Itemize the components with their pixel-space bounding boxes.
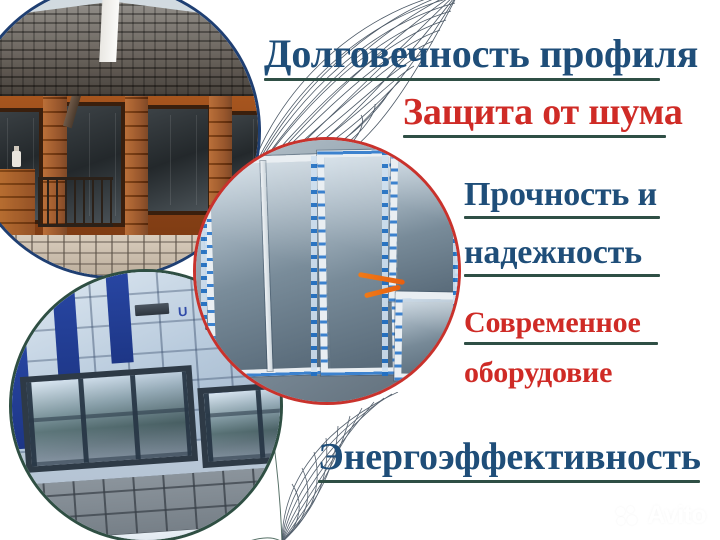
- veka-pvc-windows-image: [196, 140, 458, 402]
- poster-canvas: U Долговечность профиля: [0, 0, 720, 540]
- avito-watermark: Avito: [616, 501, 706, 530]
- headline-line-7: Энергоэффективность: [318, 438, 701, 483]
- headline-line-6-text: оборудовие: [464, 358, 612, 388]
- headline-line-3-underline: [464, 216, 660, 219]
- veka-pvc-windows-photo: [196, 140, 458, 402]
- headline-line-7-underline: [318, 480, 700, 483]
- headline-line-4-underline: [464, 274, 660, 277]
- headline-line-3-text: Прочность и: [464, 178, 660, 212]
- avito-logo-icon: [616, 506, 642, 526]
- headline-line-5-text: Современное: [464, 308, 658, 338]
- headline-line-2: Защита от шума: [403, 93, 683, 138]
- headline-line-7-text: Энергоэффективность: [318, 438, 701, 476]
- headline-line-6: оборудовие: [464, 358, 612, 388]
- headline-line-3: Прочность и: [464, 178, 660, 219]
- headline-line-5-underline: [464, 342, 658, 345]
- headline-line-1: Долговечность профиля: [264, 34, 698, 81]
- headline-line-2-text: Защита от шума: [403, 93, 683, 131]
- headline-line-1-text: Долговечность профиля: [264, 34, 698, 74]
- headline-line-1-underline: [264, 78, 660, 81]
- headline-line-2-underline: [403, 135, 666, 138]
- headline-line-5: Современное: [464, 308, 658, 345]
- headline-line-4: надежность: [464, 236, 660, 277]
- avito-wordmark: Avito: [647, 501, 706, 530]
- headline-line-4-text: надежность: [464, 236, 660, 270]
